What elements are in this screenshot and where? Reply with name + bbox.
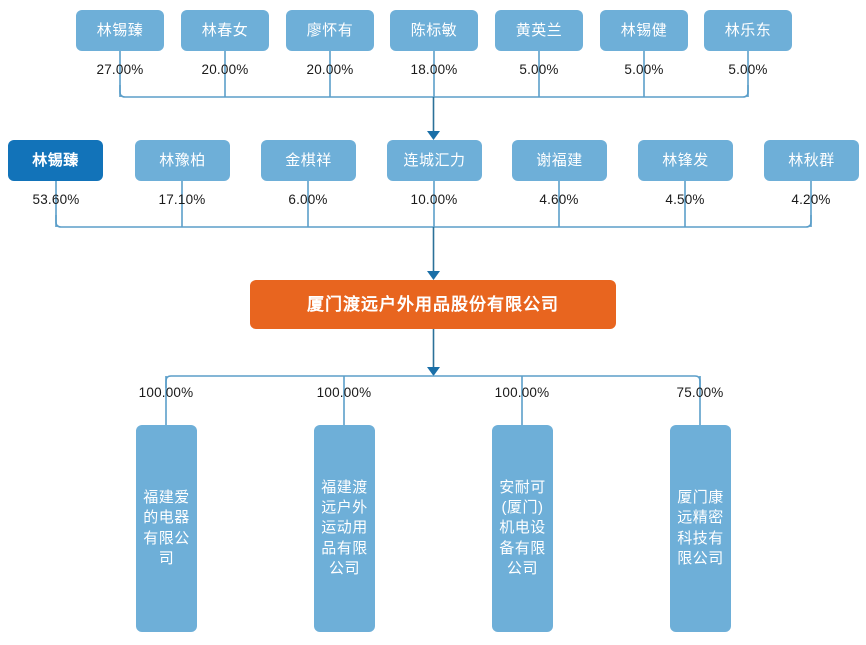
shareholder-l1-percent-2: 20.00% xyxy=(307,62,354,77)
shareholder-l1-label-2: 廖怀有 xyxy=(307,23,354,39)
main-company-node[interactable]: 厦门渡远户外用品股份有限公司 xyxy=(250,280,616,329)
shareholder-l2-percent-3: 10.00% xyxy=(411,192,458,207)
shareholder-l1-label-0: 林锡臻 xyxy=(97,23,144,39)
subsidiary-node-0[interactable]: 福建爱的电器有限公司 xyxy=(136,425,197,632)
shareholder-l1-label-5: 林锡健 xyxy=(621,23,668,39)
shareholder-l2-label-2: 金棋祥 xyxy=(285,153,332,169)
shareholder-l2-percent-2: 6.00% xyxy=(288,192,327,207)
shareholder-l1-percent-3: 18.00% xyxy=(411,62,458,77)
subsidiary-label-3: 厦门康远精密科技有限公司 xyxy=(672,488,729,569)
shareholder-l1-label-1: 林春女 xyxy=(202,23,249,39)
shareholder-l2-node-2[interactable]: 金棋祥 xyxy=(261,140,356,181)
shareholder-l2-label-1: 林豫柏 xyxy=(159,153,206,169)
shareholder-l2-node-0[interactable]: 林锡臻 xyxy=(8,140,103,181)
subsidiary-label-1: 福建渡远户外运动用品有限公司 xyxy=(316,478,373,579)
shareholder-l1-label-3: 陈标敏 xyxy=(411,23,458,39)
shareholder-l2-label-6: 林秋群 xyxy=(788,153,835,169)
org-chart-root: 林锡臻 林春女 廖怀有 陈标敏 黄英兰 林锡健 林乐东 27.00% 20.00… xyxy=(0,0,866,645)
shareholder-l2-percent-0: 53.60% xyxy=(33,192,80,207)
shareholder-l1-node-5[interactable]: 林锡健 xyxy=(600,10,688,51)
shareholder-l1-node-0[interactable]: 林锡臻 xyxy=(76,10,164,51)
shareholder-l2-percent-5: 4.50% xyxy=(665,192,704,207)
shareholder-l1-percent-5: 5.00% xyxy=(624,62,663,77)
subsidiary-node-1[interactable]: 福建渡远户外运动用品有限公司 xyxy=(314,425,375,632)
shareholder-l1-percent-1: 20.00% xyxy=(202,62,249,77)
main-company-label: 厦门渡远户外用品股份有限公司 xyxy=(307,296,559,314)
subsidiary-percent-3: 75.00% xyxy=(677,385,724,400)
shareholder-l2-node-4[interactable]: 谢福建 xyxy=(512,140,607,181)
shareholder-l2-node-6[interactable]: 林秋群 xyxy=(764,140,859,181)
subsidiary-node-3[interactable]: 厦门康远精密科技有限公司 xyxy=(670,425,731,632)
subsidiary-node-2[interactable]: 安耐可(厦门)机电设备有限公司 xyxy=(492,425,553,632)
shareholder-l2-label-0: 林锡臻 xyxy=(32,153,79,169)
shareholder-l2-label-3: 连城汇力 xyxy=(403,153,465,169)
shareholder-l1-percent-0: 27.00% xyxy=(97,62,144,77)
shareholder-l2-percent-4: 4.60% xyxy=(539,192,578,207)
shareholder-l2-node-3[interactable]: 连城汇力 xyxy=(387,140,482,181)
subsidiary-label-2: 安耐可(厦门)机电设备有限公司 xyxy=(494,478,551,579)
shareholder-l2-label-4: 谢福建 xyxy=(536,153,583,169)
shareholder-l1-node-6[interactable]: 林乐东 xyxy=(704,10,792,51)
subsidiary-label-0: 福建爱的电器有限公司 xyxy=(138,488,195,569)
subsidiary-percent-0: 100.00% xyxy=(139,385,194,400)
shareholder-l1-label-4: 黄英兰 xyxy=(516,23,563,39)
shareholder-l2-label-5: 林锋发 xyxy=(662,153,709,169)
shareholder-l1-node-3[interactable]: 陈标敏 xyxy=(390,10,478,51)
shareholder-l2-node-1[interactable]: 林豫柏 xyxy=(135,140,230,181)
shareholder-l1-node-1[interactable]: 林春女 xyxy=(181,10,269,51)
shareholder-l1-label-6: 林乐东 xyxy=(725,23,772,39)
shareholder-l2-percent-1: 17.10% xyxy=(159,192,206,207)
shareholder-l1-node-2[interactable]: 廖怀有 xyxy=(286,10,374,51)
subsidiary-percent-2: 100.00% xyxy=(495,385,550,400)
shareholder-l1-percent-6: 5.00% xyxy=(728,62,767,77)
shareholder-l1-percent-4: 5.00% xyxy=(519,62,558,77)
subsidiary-percent-1: 100.00% xyxy=(317,385,372,400)
shareholder-l2-node-5[interactable]: 林锋发 xyxy=(638,140,733,181)
shareholder-l1-node-4[interactable]: 黄英兰 xyxy=(495,10,583,51)
shareholder-l2-percent-6: 4.20% xyxy=(791,192,830,207)
